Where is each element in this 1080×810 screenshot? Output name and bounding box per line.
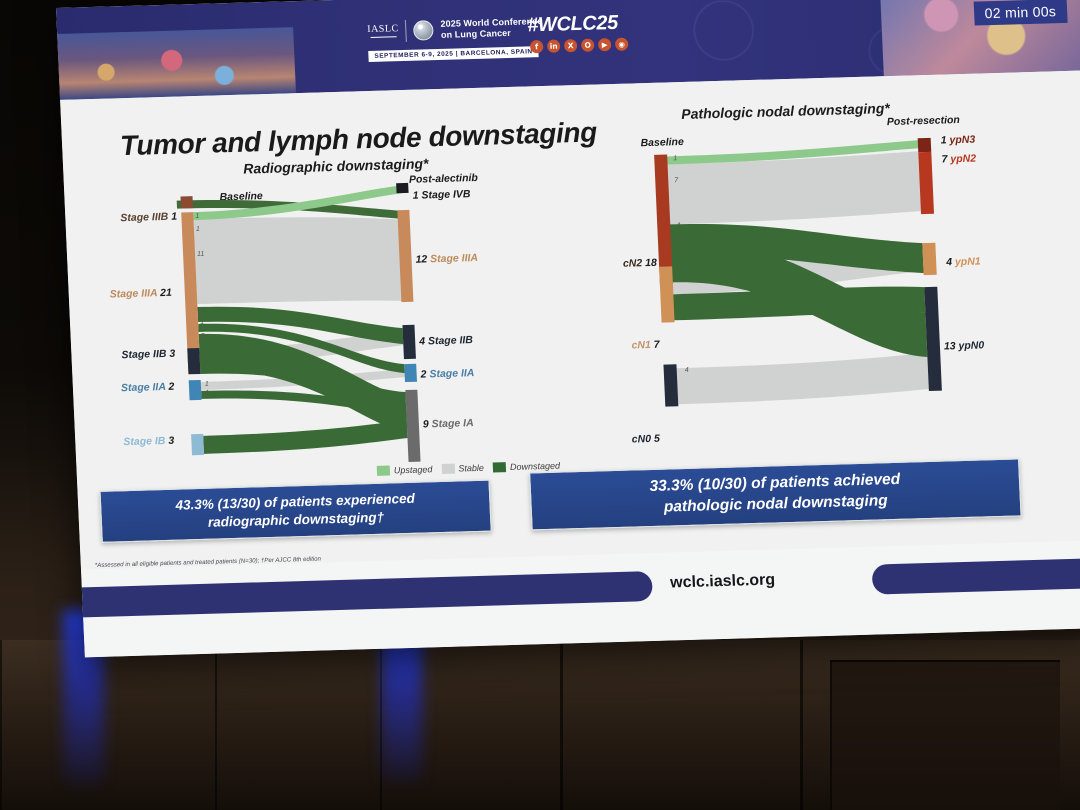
linkedin-icon[interactable]: in: [547, 39, 561, 52]
footer-url: wclc.iaslc.org: [670, 571, 776, 592]
flowval-cN1-ypN1: 3: [680, 267, 684, 274]
slide-body: Tumor and lymph node downstaging Radiogr…: [60, 70, 1080, 569]
label-right-stage-IIB-value: 4: [419, 335, 425, 347]
flowval-IIIA-IIA: 1: [200, 319, 204, 326]
conference-date-location: SEPTEMBER 6-9, 2025 | BARCELONA, SPAIN: [368, 46, 539, 62]
footer-pill-left: [56, 571, 653, 618]
label-right-stage-IIA: 2 Stage IIA: [420, 367, 474, 381]
label-left-stage-IB: Stage IB 3: [123, 435, 174, 448]
flowval-cN2-ypN3: 1: [673, 155, 677, 162]
iaslc-rule: [370, 36, 396, 38]
flowval-IIIA-IVB: 1: [196, 226, 200, 233]
legend-swatch-stable: [441, 464, 454, 474]
label-right-ypN3-value: 1: [941, 134, 947, 146]
label-right-ypN3-text: ypN3: [949, 134, 975, 147]
node-left-cN0: [663, 364, 678, 406]
label-left-cN2-value: 18: [645, 257, 657, 269]
label-right-stage-IA: 9 Stage IA: [423, 417, 474, 430]
label-right-ypN1-value: 4: [946, 256, 952, 268]
label-left-stage-IIIB-text: Stage IIIB: [120, 211, 168, 224]
pathologic-nodal-downstaging-sankey: [607, 127, 1080, 460]
link-cN0-ypN0-stable: [675, 353, 929, 404]
label-left-stage-IB-text: Stage IB: [123, 435, 166, 448]
flowval-IB-IA: 2: [207, 436, 211, 443]
youtube-icon[interactable]: ▶: [598, 38, 612, 51]
label-left-cN2-text: cN2: [623, 257, 643, 270]
label-right-stage-IIB-text: Stage IIB: [428, 334, 473, 347]
session-timer: 02 min 00s: [973, 0, 1068, 26]
label-right-ypN3: 1 ypN3: [941, 134, 976, 147]
flowval-cN2-ypN0: 6: [677, 236, 681, 243]
instagram-icon[interactable]: O: [581, 39, 595, 52]
label-left-stage-IIA-text: Stage IIA: [121, 381, 166, 394]
flowval-cN2-ypN2: 7: [674, 177, 678, 184]
label-left-stage-IIA-value: 2: [168, 381, 174, 393]
node-right-stage-IIA: [404, 364, 417, 382]
flowval-cN0-ypN0: 4: [685, 367, 689, 374]
label-right-stage-IIB: 4 Stage IIB: [419, 334, 473, 348]
label-right-stage-IA-value: 9: [423, 418, 429, 430]
banner-photo-left: [57, 27, 296, 100]
node-right-stage-IA: [405, 390, 420, 462]
iaslc-wordmark: IASLC: [367, 24, 399, 40]
flowval-IIB-IIB: 2: [203, 348, 207, 355]
logo-divider: [405, 20, 407, 42]
right-chart-target-axis-label: Post-resection: [887, 114, 960, 128]
label-right-stage-IIIA-value: 12: [415, 253, 427, 265]
label-left-stage-IB-value: 3: [168, 435, 174, 447]
legend-label-upstaged: Upstaged: [394, 464, 433, 475]
label-left-stage-IIIA-text: Stage IIIA: [110, 287, 158, 300]
flowval-IIIA-IIB: 2: [200, 310, 204, 317]
label-right-stage-IIIA-text: Stage IIIA: [430, 252, 478, 265]
label-right-stage-IVB: 1 Stage IVB: [412, 188, 470, 202]
label-right-stage-IIA-value: 2: [420, 368, 426, 380]
label-left-stage-IIB: Stage IIB 3: [121, 348, 175, 362]
label-left-stage-IIIB: Stage IIIB 1: [120, 211, 177, 225]
callout-radiographic-downstaging: 43.3% (13/30) of patients experienced ra…: [100, 480, 492, 543]
label-right-stage-IVB-text: Stage IVB: [421, 188, 471, 201]
flowval-IIA-IIA: 1: [205, 381, 209, 388]
label-right-ypN2: 7 ypN2: [941, 153, 976, 166]
label-left-cN2: cN2 18: [623, 257, 657, 270]
node-left-cN1: [659, 266, 674, 322]
flowval-IIIA-IIIA: 11: [197, 251, 205, 258]
label-left-stage-IIB-value: 3: [169, 348, 175, 360]
label-left-cN1-value: 7: [654, 339, 660, 351]
label-right-ypN0: 13 ypN0: [944, 339, 985, 352]
label-right-ypN1: 4 ypN1: [946, 255, 981, 268]
label-left-cN0-text: cN0: [632, 433, 652, 446]
node-right-stage-IIB: [402, 325, 416, 359]
legend-label-downstaged: Downstaged: [510, 461, 560, 472]
flowval-IIB-IA: 1: [204, 360, 208, 367]
label-right-stage-IA-text: Stage IA: [431, 417, 474, 430]
conference-hashtag: #WCLC25: [527, 12, 619, 38]
iaslc-text: IASLC: [367, 23, 399, 35]
node-left-stage-IIA: [189, 380, 202, 400]
link-IIIA-IIIA-stable: [194, 213, 408, 307]
label-left-cN1: cN1 7: [631, 339, 660, 352]
projection-screen: IASLC 2025 World Conference on Lung Canc…: [56, 0, 1080, 657]
radiographic-downstaging-sankey: [104, 162, 617, 476]
twitter-x-icon[interactable]: X: [564, 39, 578, 52]
label-right-ypN0-text: ypN0: [958, 339, 984, 352]
label-left-stage-IIIA-value: 21: [160, 287, 172, 299]
iaslc-logo-block: IASLC 2025 World Conference on Lung Canc…: [367, 16, 543, 43]
node-right-ypN2: [918, 152, 934, 214]
link-IB-IA-downstaged: [203, 420, 408, 454]
label-right-ypN0-value: 13: [944, 340, 956, 352]
node-left-stage-IB: [191, 434, 204, 455]
label-right-ypN2-text: ypN2: [950, 153, 976, 166]
node-left-stage-IIIB: [181, 196, 194, 208]
flowval-IIA-IA: 1: [205, 390, 209, 397]
legend-item-downstaged: Downstaged: [493, 461, 560, 473]
flowval-cN1-ypN0: 3: [681, 294, 685, 301]
podcast-icon[interactable]: ◉: [615, 38, 629, 51]
label-left-cN0: cN0 5: [632, 433, 661, 446]
label-right-stage-IIA-text: Stage IIA: [429, 367, 474, 380]
label-left-stage-IIA: Stage IIA 2: [121, 381, 175, 395]
node-left-stage-IIB: [187, 348, 200, 374]
label-right-stage-IVB-value: 1: [412, 190, 418, 202]
footer-pill-right: [872, 555, 1080, 594]
right-chart-title: Pathologic nodal downstaging*: [681, 100, 890, 122]
node-right-ypN1: [922, 243, 936, 275]
legend-swatch-downstaged: [493, 462, 506, 472]
facebook-icon[interactable]: f: [530, 40, 544, 53]
node-right-stage-IVB: [396, 183, 408, 193]
label-left-cN0-value: 5: [654, 433, 660, 445]
label-right-stage-IIIA: 12 Stage IIIA: [415, 252, 478, 266]
globe-icon: [413, 20, 434, 41]
legend-swatch-upstaged: [377, 466, 390, 476]
stage-door: [830, 660, 1060, 810]
label-left-stage-IIB-text: Stage IIB: [121, 348, 166, 361]
legend-label-stable: Stable: [458, 463, 484, 474]
node-right-ypN3: [918, 138, 932, 152]
label-right-ypN1-text: ypN1: [955, 255, 981, 268]
label-left-cN1-text: cN1: [631, 339, 651, 352]
slide-title: Tumor and lymph node downstaging: [120, 116, 598, 162]
legend-item-upstaged: Upstaged: [377, 464, 433, 476]
banner-hex-pattern: [596, 0, 1020, 84]
flowval-IIIA-IA: 5: [201, 333, 205, 340]
label-right-ypN2-value: 7: [941, 153, 947, 165]
label-left-stage-IIIB-value: 1: [171, 211, 177, 223]
legend-item-stable: Stable: [441, 463, 484, 474]
label-left-stage-IIIA: Stage IIIA 21: [110, 287, 173, 301]
flowval-cN2-ypN1: 4: [676, 222, 680, 229]
callout-pathologic-downstaging: 33.3% (10/30) of patients achieved patho…: [529, 458, 1021, 530]
flowval-IIIB-IIIA: 1: [195, 213, 199, 220]
